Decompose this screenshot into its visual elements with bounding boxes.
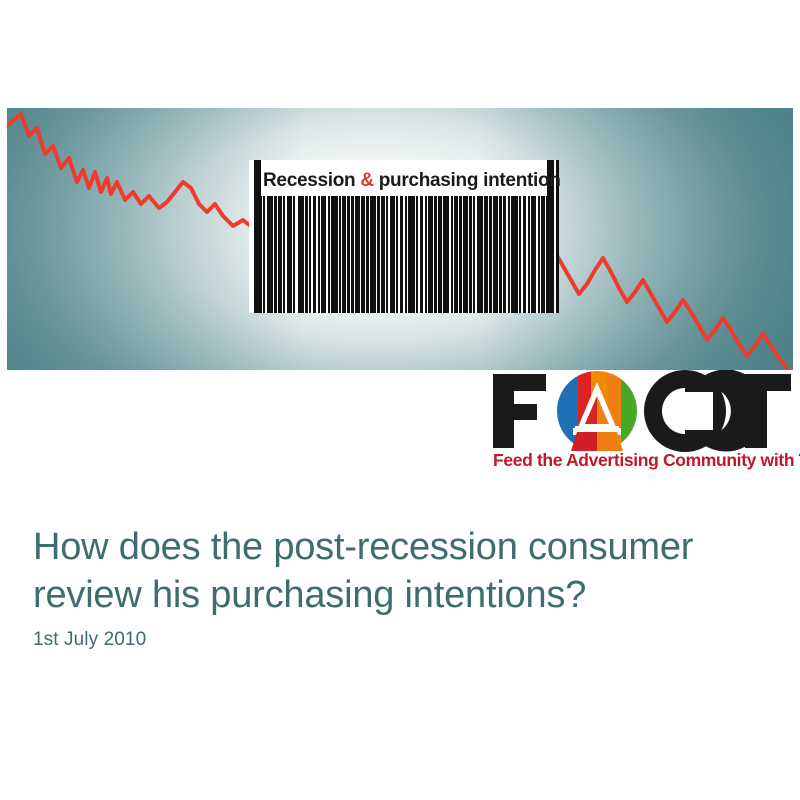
barcode-bar bbox=[451, 196, 453, 313]
slide-date: 1st July 2010 bbox=[33, 629, 146, 651]
fact-logo: Feed the Advertising Community with Tren… bbox=[489, 370, 794, 478]
barcode-bar bbox=[463, 196, 468, 313]
barcode-bar bbox=[484, 196, 488, 313]
barcode-caption-part2: purchasing intention bbox=[374, 170, 561, 191]
page-title-line-1: How does the post-recession consumer bbox=[33, 523, 763, 571]
barcode-bar bbox=[459, 196, 461, 313]
barcode-bar bbox=[386, 196, 388, 313]
hero-banner: Recession & purchasing intention bbox=[7, 108, 793, 370]
barcode-caption-ampersand: & bbox=[360, 170, 373, 191]
barcode-bar bbox=[538, 196, 540, 313]
barcode-bar bbox=[283, 196, 285, 313]
barcode-bar bbox=[309, 196, 311, 313]
barcode-bar bbox=[305, 196, 307, 313]
barcode-bar bbox=[473, 196, 475, 313]
fact-logo-tagline: Feed the Advertising Community with Tren… bbox=[493, 450, 800, 471]
barcode-bar bbox=[400, 196, 404, 313]
logo-letter-f-icon bbox=[493, 374, 546, 448]
barcode-bar bbox=[328, 196, 330, 313]
page-title-line-2: review his purchasing intentions? bbox=[33, 571, 763, 619]
barcode-bar bbox=[405, 196, 407, 313]
barcode-caption-part1: Recession bbox=[263, 170, 360, 191]
trend-line-left bbox=[7, 114, 263, 228]
barcode-bar bbox=[541, 196, 545, 313]
barcode-bar bbox=[416, 196, 418, 313]
barcode-bar bbox=[298, 196, 304, 313]
barcode-bar bbox=[408, 196, 414, 313]
barcode-bar bbox=[313, 196, 317, 313]
fact-logo-mark bbox=[489, 370, 794, 452]
barcode-bar bbox=[321, 196, 326, 313]
barcode-bar bbox=[377, 196, 379, 313]
logo-letter-a-icon bbox=[557, 371, 639, 452]
barcode-bar bbox=[434, 196, 436, 313]
barcode-bar bbox=[258, 196, 262, 313]
barcode-bar bbox=[493, 196, 498, 313]
barcode-bar bbox=[519, 196, 521, 313]
barcode-bar bbox=[511, 196, 517, 313]
barcode-bar bbox=[425, 196, 427, 313]
barcode-bar bbox=[278, 196, 282, 313]
barcode-bar bbox=[381, 196, 385, 313]
barcode-bar bbox=[454, 196, 458, 313]
barcode-bar bbox=[477, 196, 483, 313]
barcode-bar bbox=[347, 196, 349, 313]
barcode-bar bbox=[420, 196, 424, 313]
barcode-bars bbox=[249, 196, 559, 313]
fact-logo-letters bbox=[489, 370, 794, 452]
barcode-bar bbox=[508, 196, 510, 313]
barcode-bar bbox=[361, 196, 365, 313]
barcode-bar bbox=[370, 196, 376, 313]
barcode-plate: Recession & purchasing intention bbox=[249, 160, 559, 313]
barcode-bar bbox=[396, 196, 398, 313]
barcode-bar bbox=[469, 196, 471, 313]
barcode-bar bbox=[274, 196, 276, 313]
barcode-bar bbox=[523, 196, 527, 313]
barcode-bar bbox=[503, 196, 507, 313]
barcode-bar bbox=[531, 196, 536, 313]
barcode-caption: Recession & purchasing intention bbox=[263, 168, 545, 194]
barcode-bar bbox=[287, 196, 292, 313]
barcode-bar bbox=[366, 196, 368, 313]
barcode-bar bbox=[528, 196, 530, 313]
barcode-bar bbox=[267, 196, 273, 313]
barcode-bar bbox=[443, 196, 449, 313]
barcode-bar bbox=[351, 196, 353, 313]
barcode-bar bbox=[331, 196, 337, 313]
barcode-bar bbox=[293, 196, 295, 313]
barcode-bar bbox=[390, 196, 395, 313]
barcode-bar bbox=[339, 196, 341, 313]
page-title: How does the post-recession consumer rev… bbox=[33, 523, 763, 619]
barcode-bar bbox=[428, 196, 433, 313]
barcode-bar bbox=[318, 196, 320, 313]
barcode-bar bbox=[499, 196, 501, 313]
barcode-bar bbox=[546, 196, 548, 313]
barcode-bar bbox=[342, 196, 346, 313]
barcode-bar bbox=[489, 196, 491, 313]
barcode-bar bbox=[355, 196, 360, 313]
barcode-bar bbox=[263, 196, 265, 313]
barcode-bar bbox=[438, 196, 442, 313]
